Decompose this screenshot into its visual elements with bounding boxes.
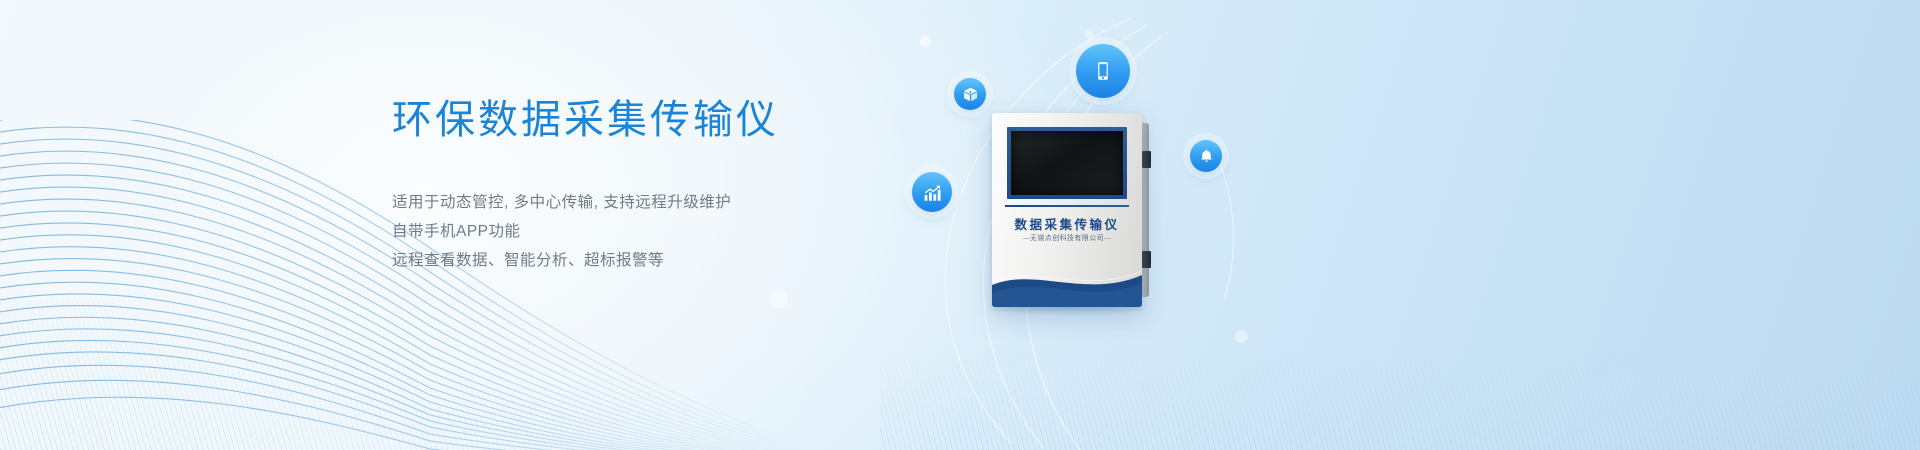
decorative-bubble xyxy=(1085,30,1094,39)
device-accent-bar xyxy=(1005,205,1129,207)
device-connector xyxy=(1142,151,1151,168)
device-screen xyxy=(1011,131,1123,195)
device-side-panel xyxy=(1141,123,1149,297)
decorative-bubble xyxy=(770,290,788,308)
device-image: 数据采集传输仪 —无锡点创科技有限公司— xyxy=(992,113,1142,307)
cube-icon xyxy=(962,86,979,103)
phone-icon-badge[interactable] xyxy=(1076,44,1130,98)
alarm-icon-badge[interactable] xyxy=(1190,140,1222,172)
device-company: —无锡点创科技有限公司— xyxy=(992,233,1142,243)
decorative-bubble xyxy=(920,36,931,47)
product-banner: 环保数据采集传输仪 适用于动态管控, 多中心传输, 支持远程升级维护 自带手机A… xyxy=(0,0,1920,450)
device-connector xyxy=(1142,251,1151,268)
device-wave-graphic xyxy=(992,259,1142,307)
device-label: 数据采集传输仪 xyxy=(992,214,1142,233)
phone-icon xyxy=(1091,59,1115,83)
chart-icon xyxy=(922,182,943,203)
decorative-bubble xyxy=(1235,330,1248,343)
cube-icon-badge[interactable] xyxy=(954,78,986,110)
chart-icon-badge[interactable] xyxy=(912,172,952,212)
device-body: 数据采集传输仪 —无锡点创科技有限公司— xyxy=(992,113,1142,307)
device-screen-frame xyxy=(1007,127,1127,199)
alarm-icon xyxy=(1198,148,1215,165)
product-visual: 数据采集传输仪 —无锡点创科技有限公司— xyxy=(880,0,1380,450)
hatch-texture-left xyxy=(0,300,620,450)
